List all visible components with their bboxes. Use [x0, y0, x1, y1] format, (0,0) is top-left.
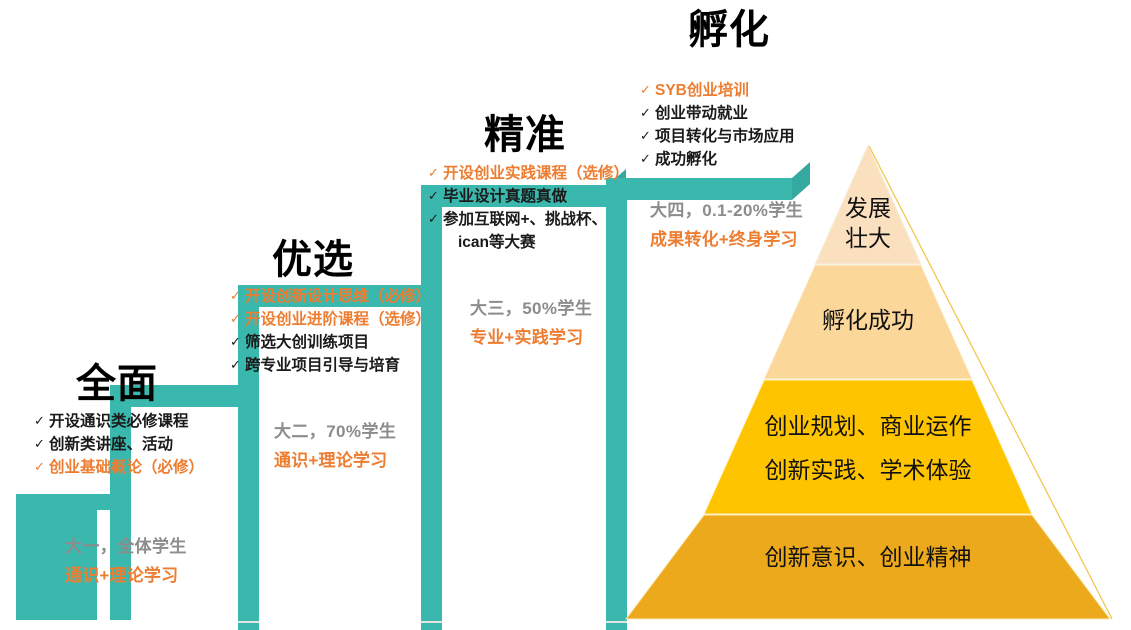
step-corner-1 [16, 494, 272, 510]
check-icon: ✓ [230, 286, 245, 305]
stage-caption-3: 大三，50%学生 专业+实践学习 [470, 298, 592, 350]
step-tread-1 [16, 494, 272, 510]
pyramid-label-2-line1: 孵化成功 [768, 305, 968, 335]
bullet-text: 创业带动就业 [655, 103, 748, 126]
diagram-canvas: 全面 ✓ 开设通识类必修课程 ✓ 创新类讲座、活动 ✓ 创业基础概论（必修） 大… [0, 0, 1131, 630]
bullet-item: ✓ 开设通识类必修课程 [34, 411, 204, 434]
bullet-item: ✓ 开设创业进阶课程（选修） [230, 309, 431, 332]
stage-title-3: 精准 [484, 115, 566, 155]
bullet-text: 开设创业进阶课程（选修） [245, 309, 431, 332]
pyramid-label-1-line1: 发展 [818, 193, 918, 223]
step-tread-5 [606, 178, 792, 200]
bullet-item: ✓ 参加互联网+、挑战杯、 ican等大赛 [428, 209, 629, 255]
check-icon: ✓ [230, 355, 245, 374]
step-bevel-5 [792, 162, 810, 200]
bullet-text: 项目转化与市场应用 [655, 126, 795, 149]
check-icon: ✓ [428, 186, 443, 205]
caption-focus: 成果转化+终身学习 [650, 229, 803, 252]
check-icon: ✓ [34, 457, 49, 476]
check-icon: ✓ [34, 411, 49, 430]
check-icon: ✓ [640, 103, 655, 122]
footer-rule [44, 621, 1131, 623]
check-icon: ✓ [230, 309, 245, 328]
stage-bullets-4: ✓ SYB创业培训 ✓ 创业带动就业 ✓ 项目转化与市场应用 ✓ 成功孵化 [640, 80, 795, 172]
bullet-item: ✓ 创业基础概论（必修） [34, 457, 204, 480]
bullet-text: 成功孵化 [655, 149, 717, 172]
check-icon: ✓ [428, 209, 443, 228]
bullet-text: 创新类讲座、活动 [49, 434, 173, 457]
caption-focus: 通识+理论学习 [65, 565, 187, 588]
stage-bullets-3: ✓ 开设创业实践课程（选修） ✓ 毕业设计真题真做 ✓ 参加互联网+、挑战杯、 … [428, 163, 629, 255]
check-icon: ✓ [230, 332, 245, 351]
bullet-text-continuation: ican等大赛 [443, 232, 607, 255]
bullet-text-group: 参加互联网+、挑战杯、 ican等大赛 [443, 209, 607, 255]
bullet-text: 开设创新设计思维（必修） [245, 286, 431, 309]
bullet-text: 参加互联网+、挑战杯、 [443, 209, 607, 232]
pyramid-label-4: 创新意识、创业精神 [688, 542, 1048, 572]
check-icon: ✓ [640, 149, 655, 168]
pyramid-label-2: 孵化成功 [768, 305, 968, 335]
caption-cohort: 大一，全体学生 [65, 536, 187, 559]
bullet-text: SYB创业培训 [655, 80, 749, 103]
bullet-text: 毕业设计真题真做 [443, 186, 567, 209]
bullet-text: 开设通识类必修课程 [49, 411, 189, 434]
pyramid-label-3-line2: 创新实践、学术体验 [688, 455, 1048, 485]
stage-caption-1: 大一，全体学生 通识+理论学习 [65, 536, 187, 588]
bullet-item: ✓ 跨专业项目引导与培育 [230, 355, 431, 378]
caption-cohort: 大四，0.1-20%学生 [650, 200, 803, 223]
stage-caption-4: 大四，0.1-20%学生 成果转化+终身学习 [650, 200, 803, 252]
stage-caption-2: 大二，70%学生 通识+理论学习 [274, 421, 396, 473]
stage-title-2: 优选 [272, 240, 354, 280]
pyramid-label-3: 创业规划、商业运作 创新实践、学术体验 [688, 411, 1048, 486]
bullet-text: 跨专业项目引导与培育 [245, 355, 400, 378]
bullet-item: ✓ 开设创业实践课程（选修） [428, 163, 629, 186]
pyramid-label-1-line2: 壮大 [818, 223, 918, 253]
caption-cohort: 大二，70%学生 [274, 421, 396, 444]
check-icon: ✓ [640, 126, 655, 145]
bullet-item: ✓ 筛选大创训练项目 [230, 332, 431, 355]
caption-focus: 专业+实践学习 [470, 327, 592, 350]
caption-focus: 通识+理论学习 [274, 450, 396, 473]
stage-bullets-2: ✓ 开设创新设计思维（必修） ✓ 开设创业进阶课程（选修） ✓ 筛选大创训练项目… [230, 286, 431, 378]
check-icon: ✓ [428, 163, 443, 182]
bullet-item: ✓ 成功孵化 [640, 149, 795, 172]
bullet-item: ✓ SYB创业培训 [640, 80, 795, 103]
bullet-item: ✓ 开设创新设计思维（必修） [230, 286, 431, 309]
bullet-item: ✓ 创新类讲座、活动 [34, 434, 204, 457]
bullet-text: 开设创业实践课程（选修） [443, 163, 629, 186]
check-icon: ✓ [34, 434, 49, 453]
stage-title-4: 孵化 [688, 10, 770, 50]
stage-title-1: 全面 [76, 364, 158, 404]
caption-cohort: 大三，50%学生 [470, 298, 592, 321]
bullet-text: 创业基础概论（必修） [49, 457, 204, 480]
pyramid-label-1: 发展 壮大 [818, 193, 918, 254]
check-icon: ✓ [640, 80, 655, 99]
bullet-item: ✓ 项目转化与市场应用 [640, 126, 795, 149]
bullet-item: ✓ 毕业设计真题真做 [428, 186, 629, 209]
bullet-item: ✓ 创业带动就业 [640, 103, 795, 126]
stage-bullets-1: ✓ 开设通识类必修课程 ✓ 创新类讲座、活动 ✓ 创业基础概论（必修） [34, 411, 204, 480]
pyramid-label-4-line1: 创新意识、创业精神 [688, 542, 1048, 572]
pyramid-label-3-line1: 创业规划、商业运作 [688, 411, 1048, 441]
bullet-text: 筛选大创训练项目 [245, 332, 369, 355]
